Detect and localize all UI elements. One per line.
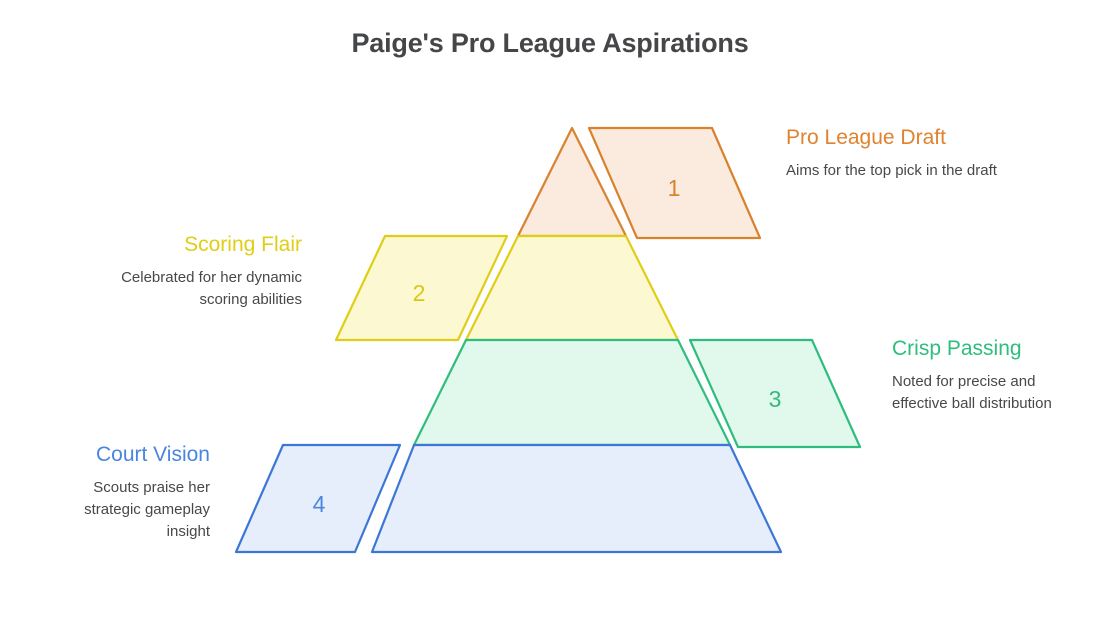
callout-heading-level-2: Scoring Flair <box>120 231 302 258</box>
callout-description-level-1: Aims for the top pick in the draft <box>786 160 1036 182</box>
callout-level-1: Pro League Draft Aims for the top pick i… <box>786 124 1036 182</box>
level-number-1: 1 <box>668 175 681 201</box>
infographic-canvas: Paige's Pro League Aspirations 1 2 3 4 P… <box>0 0 1100 620</box>
callout-heading-level-4: Court Vision <box>42 441 210 468</box>
level-number-4: 4 <box>313 491 326 517</box>
callout-description-level-2: Celebrated for her dynamic scoring abili… <box>120 267 302 311</box>
callout-level-4: Court Vision Scouts praise her strategic… <box>42 441 210 543</box>
callout-level-2: Scoring Flair Celebrated for her dynamic… <box>120 231 302 311</box>
callout-description-level-4: Scouts praise her strategic gameplay ins… <box>42 477 210 543</box>
level-number-3: 3 <box>769 386 782 412</box>
callout-level-3: Crisp Passing Noted for precise and effe… <box>892 335 1092 415</box>
callout-heading-level-3: Crisp Passing <box>892 335 1092 362</box>
level-number-2: 2 <box>413 280 426 306</box>
pyramid-level-4-shape[interactable] <box>372 445 781 552</box>
callout-heading-level-1: Pro League Draft <box>786 124 1036 151</box>
pyramid-level-3-shape[interactable] <box>414 340 730 445</box>
callout-description-level-3: Noted for precise and effective ball dis… <box>892 371 1092 415</box>
